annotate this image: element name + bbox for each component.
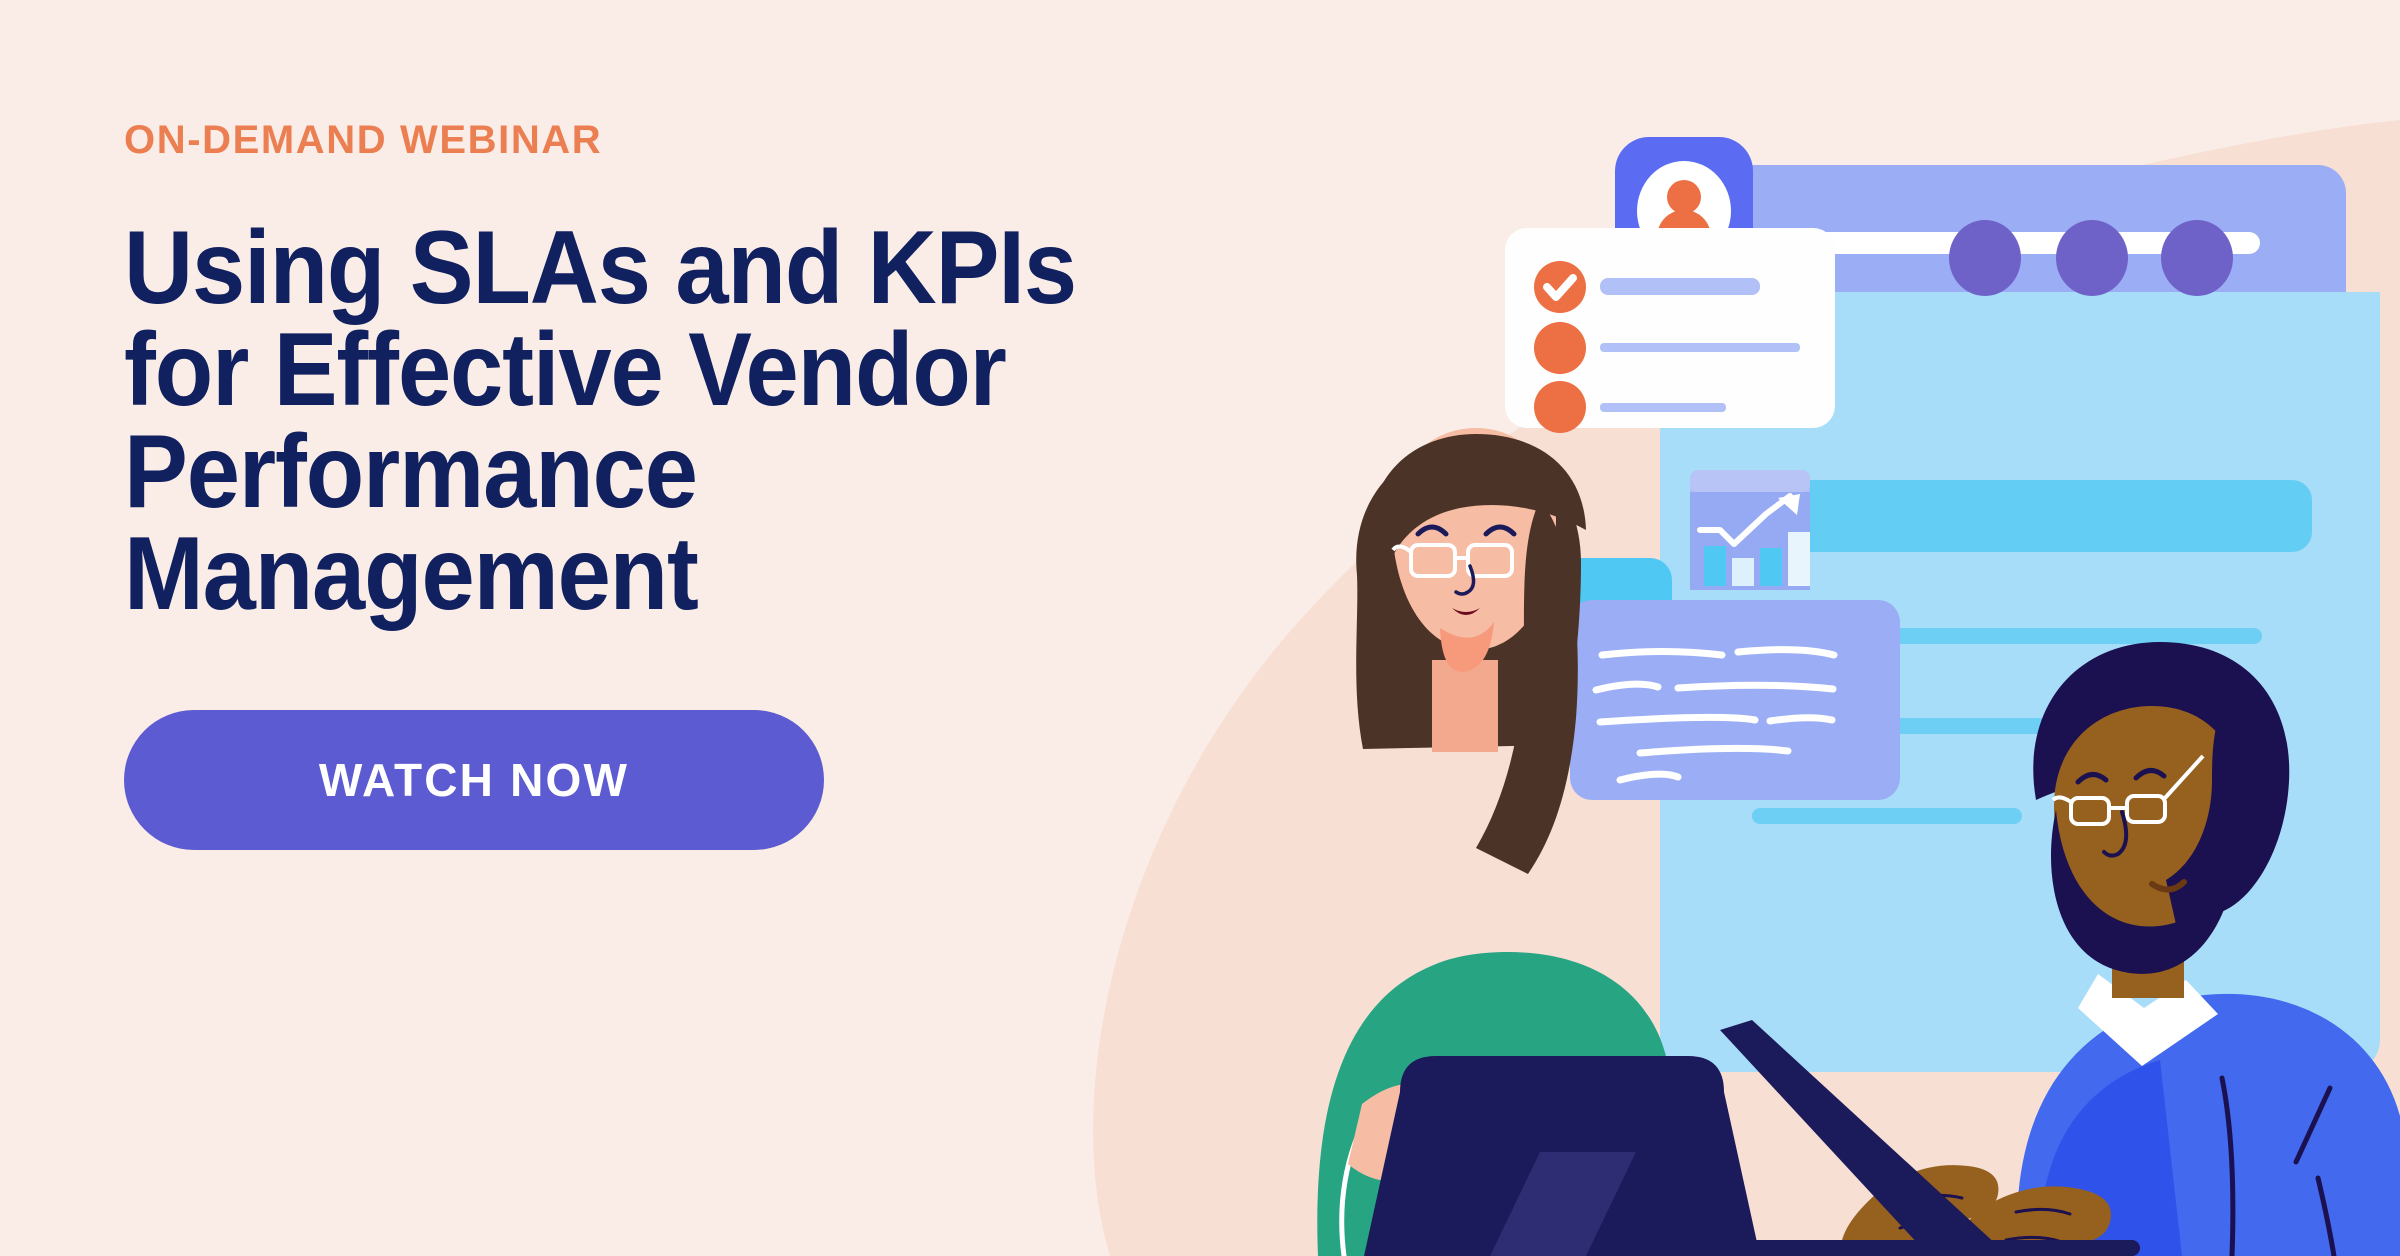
cta-wrapper: WATCH NOW [124, 710, 1244, 850]
chart-bar-3 [1760, 548, 1782, 586]
document-card [1570, 600, 1900, 800]
purple-dot-2 [2056, 220, 2128, 296]
chart-bar-2 [1732, 558, 1754, 586]
webinar-banner: ON-DEMAND WEBINAR Using SLAs and KPIs fo… [0, 0, 2400, 1256]
purple-dot-1 [1949, 220, 2021, 296]
purple-dot-3 [2161, 220, 2233, 296]
text-column: ON-DEMAND WEBINAR Using SLAs and KPIs fo… [124, 118, 1244, 850]
analytics-chart-widget [1690, 470, 1810, 590]
chart-bar-4 [1788, 532, 1810, 586]
eyebrow-label: ON-DEMAND WEBINAR [124, 118, 1244, 162]
watch-now-button[interactable]: WATCH NOW [124, 710, 824, 850]
page-title: Using SLAs and KPIs for Effective Vendor… [124, 218, 1154, 626]
chart-bar-1 [1704, 546, 1726, 586]
